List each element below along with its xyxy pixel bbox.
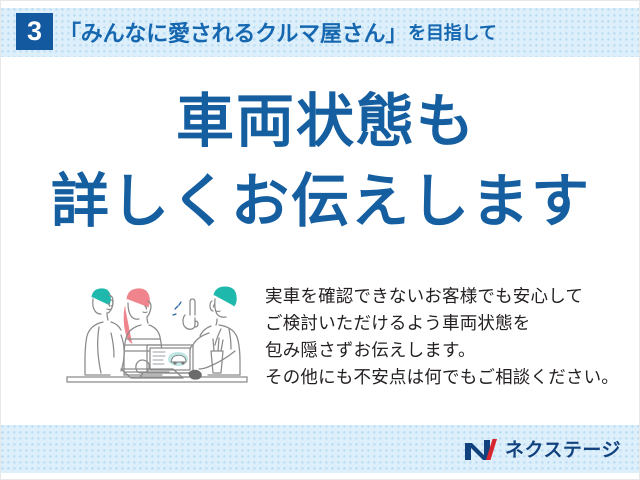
consultation-illustration-svg: [59, 273, 255, 395]
main-headline: 車両状態も 詳しくお伝えします: [1, 93, 640, 231]
promo-banner: 3 「みんなに愛されるクルマ屋さん」 を目指して 車両状態も 詳しくお伝えします: [0, 0, 640, 480]
body-copy-line-1: 実車を確認できないお客様でも安心して: [265, 283, 621, 310]
headline-line-2: 詳しくお伝えします: [1, 173, 640, 231]
headline-line-1: 車両状態も: [1, 93, 640, 151]
content-row: 実車を確認できないお客様でも安心して ご検討いただけるよう車両状態を 包み隠さず…: [1, 273, 640, 403]
body-copy: 実車を確認できないお客様でも安心して ご検討いただけるよう車両状態を 包み隠さず…: [265, 283, 621, 391]
header-title-quoted: 「みんなに愛されるクルマ屋さん」: [59, 16, 407, 48]
step-number-badge: 3: [16, 13, 53, 50]
n-mark-icon: [464, 438, 498, 462]
consultation-illustration: [59, 273, 255, 395]
header-title-tail: を目指して: [407, 19, 496, 45]
brand-logo: ネクステージ: [464, 437, 621, 463]
body-copy-line-3: 包み隠さずお伝えします。: [265, 337, 621, 364]
header-title: 「みんなに愛されるクルマ屋さん」 を目指して: [59, 13, 497, 50]
body-copy-line-4: その他にも不安点は何でもご相談ください。: [265, 364, 621, 391]
body-copy-line-2: ご検討いただけるよう車両状態を: [265, 310, 621, 337]
brand-name: ネクステージ: [505, 441, 621, 460]
